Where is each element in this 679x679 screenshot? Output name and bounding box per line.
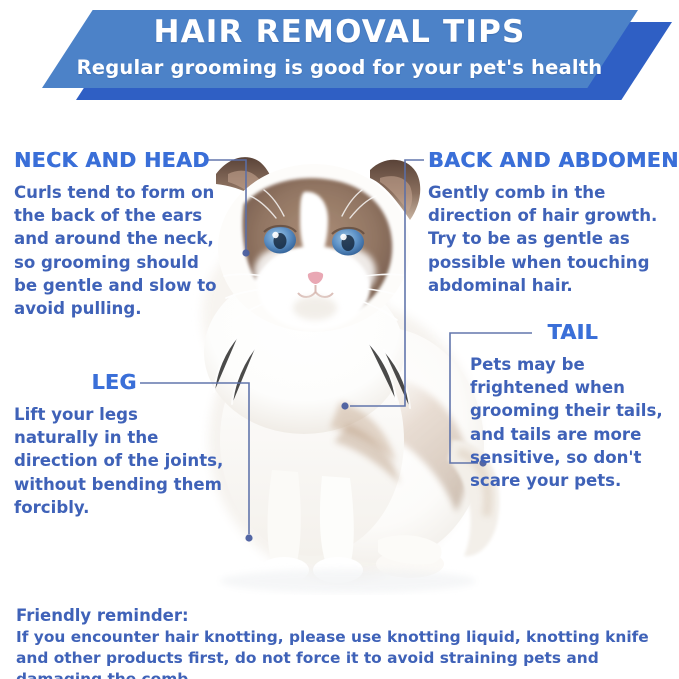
section-body-neck-and-head: Curls tend to form on the back of the ea… bbox=[14, 181, 222, 320]
page-subtitle: Regular grooming is good for your pet's … bbox=[0, 56, 679, 79]
infographic-root: HAIR REMOVAL TIPS Regular grooming is go… bbox=[0, 0, 679, 679]
section-heading-neck-and-head: NECK AND HEAD bbox=[14, 148, 229, 172]
section-tail: TAIL Pets may be frightened when groomin… bbox=[470, 320, 679, 492]
page-title: HAIR REMOVAL TIPS bbox=[0, 14, 679, 50]
section-body-back-and-abdomen: Gently comb in the direction of hair gro… bbox=[428, 181, 672, 297]
section-neck-and-head: NECK AND HEAD Curls tend to form on the … bbox=[14, 148, 229, 320]
section-body-tail: Pets may be frightened when grooming the… bbox=[470, 353, 678, 492]
section-heading-leg: LEG bbox=[14, 370, 214, 394]
section-heading-tail: TAIL bbox=[470, 320, 598, 344]
footer-body: If you encounter hair knotting, please u… bbox=[16, 627, 666, 679]
section-leg: LEG Lift your legs naturally in the dire… bbox=[14, 370, 229, 519]
footer-note: Friendly reminder: If you encounter hair… bbox=[16, 606, 666, 679]
section-body-leg: Lift your legs naturally in the directio… bbox=[14, 403, 224, 519]
header-banner: HAIR REMOVAL TIPS Regular grooming is go… bbox=[0, 0, 679, 108]
footer-title: Friendly reminder: bbox=[16, 606, 666, 625]
section-heading-back-and-abdomen: BACK AND ABDOMEN bbox=[428, 148, 676, 172]
section-back-and-abdomen: BACK AND ABDOMEN Gently comb in the dire… bbox=[428, 148, 676, 297]
